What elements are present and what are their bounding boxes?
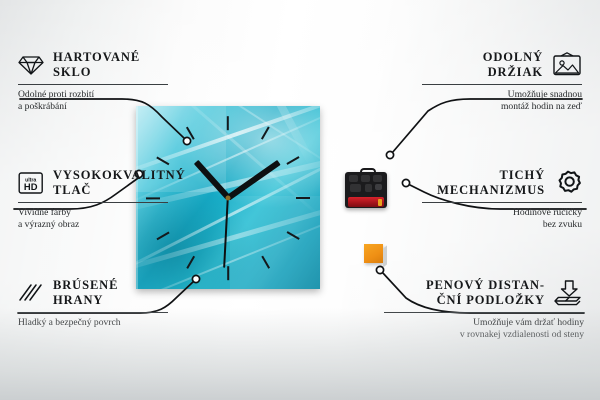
feature-title-line2: TLAČ [53,183,186,198]
feature-title-line1: HARTOVANÉ [53,50,140,65]
feature-desc-line1: Vivídne farby [18,207,168,219]
feature-divider [422,84,582,85]
ultra-hd-icon: ultra HD [18,171,44,195]
feature-silent-mechanism: TICHÝ MECHANIZMUS Hodinové ručičky bez z… [422,168,582,230]
feature-desc-line2: montáž hodin na zeď [422,101,582,113]
feature-divider [422,202,582,203]
gear-icon [554,169,582,197]
feature-desc-line1: Hladký a bezpečný povrch [18,317,168,329]
feature-title-line1: ODOLNÝ [483,50,543,65]
feature-divider [18,84,168,85]
node-bottom-left [192,275,199,282]
feature-title-line2: ČNÍ PODLOŽKY [426,293,545,308]
feature-desc-line1: Umožňuje snadnou [422,89,582,101]
feature-desc-line2: bez zvuku [422,219,582,231]
feature-title-line1: TICHÝ [437,168,545,183]
diamond-icon [18,54,44,76]
feature-polished-edges: BRÚSENÉ HRANY Hladký a bezpečný povrch [18,278,168,329]
feature-tempered-glass: HARTOVANÉ SKLO Odolné proti rozbití a po… [18,50,168,112]
node-mid-right [402,179,409,186]
feature-title-line2: DRŽIAK [483,65,543,80]
feature-divider [384,312,584,313]
node-bottom-right [376,266,383,273]
feature-desc-line1: Odolné proti rozbití [18,89,168,101]
feature-title-line1: BRÚSENÉ [53,278,118,293]
feature-desc-line2: a výrazný obraz [18,219,168,231]
feature-desc-line1: Hodinové ručičky [422,207,582,219]
feature-desc-line2: v rovnakej vzdialenosti od steny [384,329,584,341]
feature-divider [18,312,168,313]
feature-title-line1: PENOVÝ DISTAN- [426,278,545,293]
feature-foam-spacers: PENOVÝ DISTAN- ČNÍ PODLOŽKY Umožňuje vám… [384,278,584,340]
node-top-left [183,137,190,144]
feature-title-line2: SKLO [53,65,140,80]
node-top-right [386,151,393,158]
foam-pad-arrow-icon [554,280,584,306]
feature-title-line2: MECHANIZMUS [437,183,545,198]
feature-desc-line1: Umožňuje vám držať hodiny [384,317,584,329]
infographic-canvas: HARTOVANÉ SKLO Odolné proti rozbití a po… [0,0,600,400]
polished-edges-icon [18,282,44,304]
feature-hq-print: ultra HD VYSOKOKVALITNÝ TLAČ Vivídne far… [18,168,168,230]
svg-text:HD: HD [24,181,38,192]
feature-desc-line2: a poškrábání [18,101,168,113]
feature-title-line2: HRANY [53,293,118,308]
feature-title-line1: VYSOKOKVALITNÝ [53,168,186,183]
feature-divider [18,202,168,203]
picture-hanger-icon [552,52,582,77]
feature-durable-hanger: ODOLNÝ DRŽIAK Umožňuje snadnou montáž ho… [422,50,582,112]
